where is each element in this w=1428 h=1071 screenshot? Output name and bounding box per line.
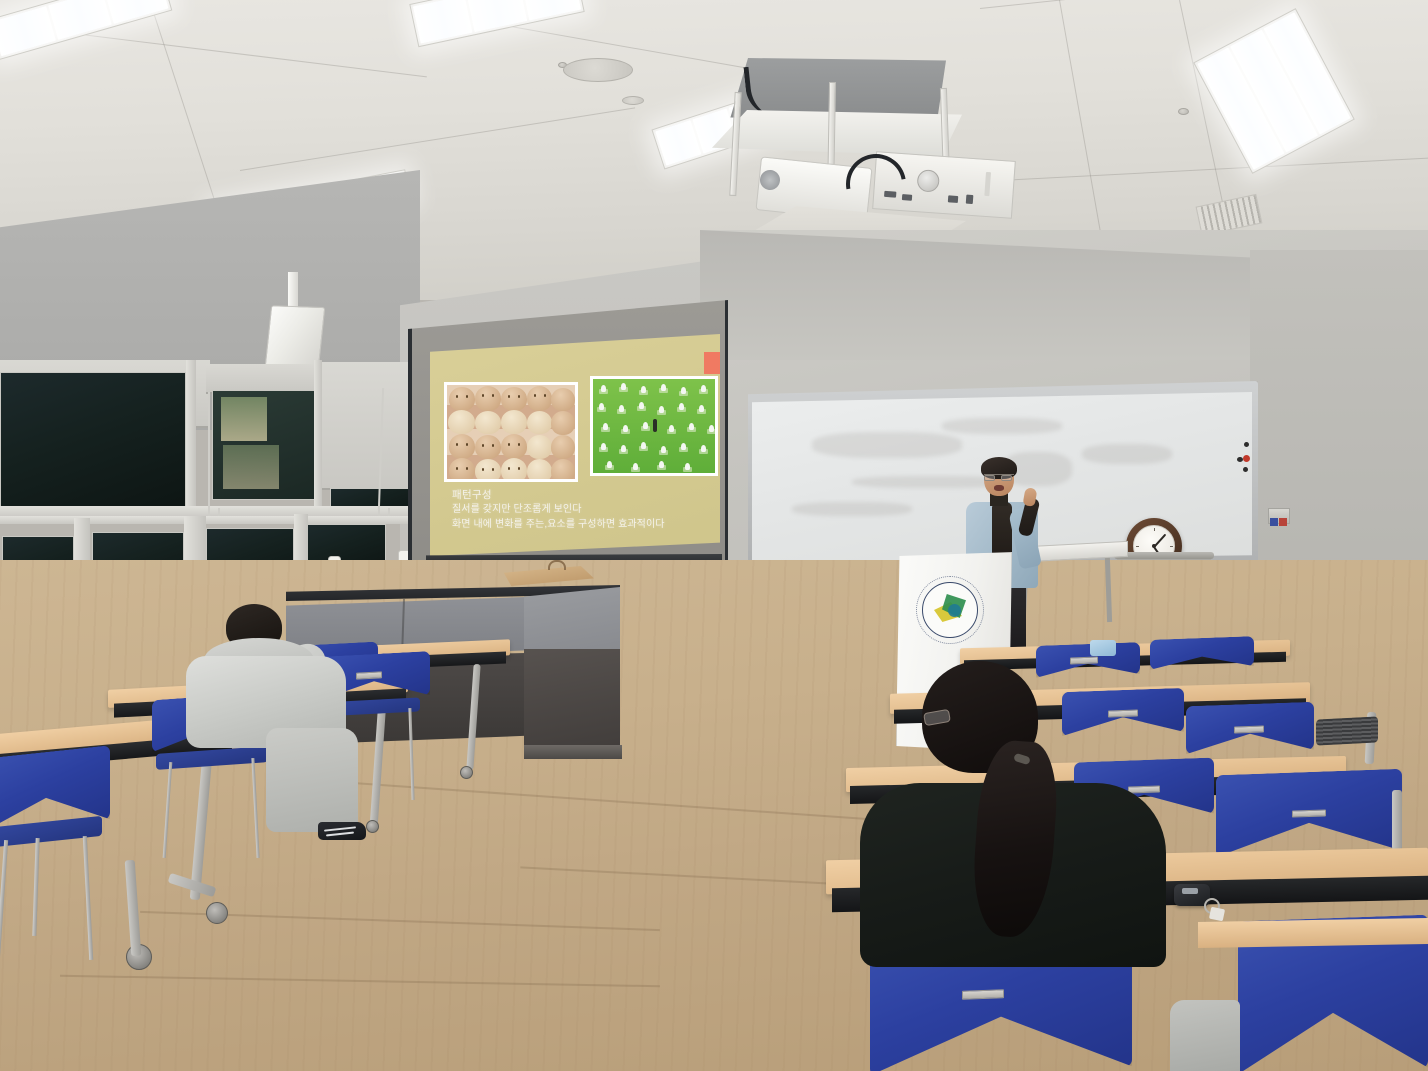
ceiling-fitting (622, 96, 644, 105)
chair-label-plate (1234, 725, 1264, 733)
whiteboard-magnet[interactable] (1237, 457, 1243, 462)
student-shoe (318, 822, 366, 840)
desk-leg (1392, 790, 1402, 850)
slide-image-bread-buns (444, 382, 578, 482)
bag-or-sleeve (1170, 1000, 1240, 1071)
lift-platform (712, 110, 962, 156)
smoke-detector-icon (1178, 108, 1189, 115)
chair-label-plate (1292, 809, 1326, 817)
presenter-turtleneck (992, 502, 1012, 554)
projection-screen: 패턴구성 질서를 갖지만 단조롭게 보인다 화면 내에 변화를 주는,요소를 구… (408, 300, 728, 590)
blind-cord[interactable] (208, 392, 210, 510)
box-handle (548, 560, 566, 570)
projector-port (948, 195, 958, 203)
exterior-light (221, 397, 267, 441)
student-legs (266, 728, 358, 832)
window-blind[interactable] (316, 362, 422, 490)
slide-image-crowd-field (590, 376, 718, 476)
projector-port (966, 195, 974, 204)
slide-line-2: 화면 내에 변화를 주는,요소를 구성하면 효과적이다 (452, 518, 702, 533)
seal-text-ring (916, 576, 984, 644)
key-tag (1209, 907, 1225, 922)
blue-packet[interactable] (1090, 640, 1116, 656)
cable-coil (1316, 716, 1378, 745)
slide-title: 패턴구성 (452, 488, 702, 503)
whiteboard-magnet[interactable] (1243, 467, 1248, 472)
lone-standing-person (653, 419, 657, 432)
window-pane (212, 390, 316, 500)
desk-caster (460, 766, 473, 779)
cart-handle-bar[interactable] (1114, 552, 1214, 559)
whiteboard-magnet[interactable] (1243, 455, 1250, 462)
slide-accent-square (704, 352, 720, 374)
slide-text-block: 패턴구성 질서를 갖지만 단조롭게 보인다 화면 내에 변화를 주는,요소를 구… (452, 488, 702, 532)
student-left (168, 600, 368, 850)
window-pane (0, 372, 186, 512)
wall-switch-indicator (1279, 518, 1287, 526)
wall-switch-indicator (1270, 518, 1278, 526)
ceiling-speaker-grille (563, 58, 633, 82)
fluorescent-tube (413, 0, 473, 44)
desk[interactable] (1198, 918, 1428, 948)
desk-caster (206, 902, 228, 924)
whiteboard-magnet[interactable] (1244, 442, 1249, 447)
clock-center (1152, 544, 1156, 548)
presenter-mouth (994, 485, 1004, 491)
projector-vent (984, 172, 991, 196)
console-lower-side (524, 649, 620, 757)
window-mullion (186, 360, 196, 522)
exterior-light (223, 445, 279, 489)
slide-line-1: 질서를 갖지만 단조롭게 보인다 (452, 503, 702, 518)
projector-knob (917, 169, 940, 192)
window-rail (0, 516, 422, 524)
window-mullion (314, 360, 322, 520)
classroom-photo: 패턴구성 질서를 갖지만 단조롭게 보인다 화면 내에 변화를 주는,요소를 구… (0, 0, 1428, 1071)
student-front (856, 655, 1186, 1071)
console-plinth (524, 745, 622, 759)
slide-surface: 패턴구성 질서를 갖지만 단조롭게 보인다 화면 내에 변화를 주는,요소를 구… (430, 334, 720, 556)
glasses-icon (984, 474, 1014, 480)
